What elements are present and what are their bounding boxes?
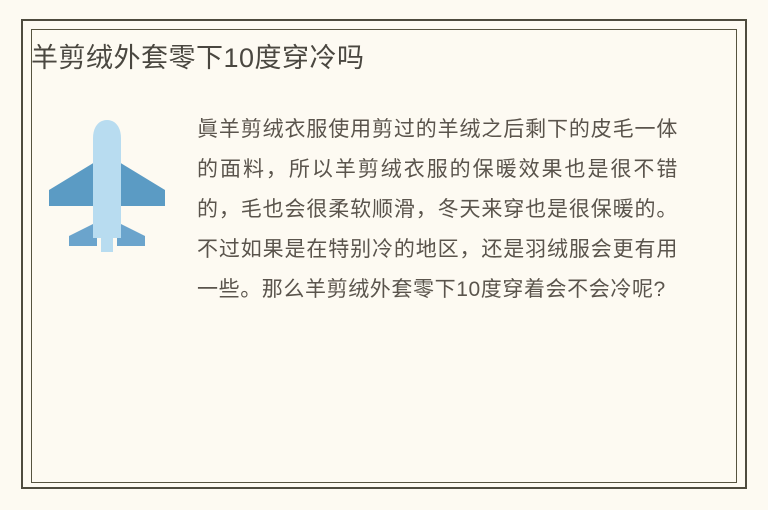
article-card-page: 羊剪绒外套零下10度穿冷吗 眞羊剪绒衣服使用剪过的羊绒之后剩下的皮毛一体的面料，… [0, 0, 768, 510]
page-title: 羊剪绒外套零下10度穿冷吗 [31, 36, 365, 75]
airplane-icon [47, 118, 167, 258]
article-body-text: 眞羊剪绒衣服使用剪过的羊绒之后剩下的皮毛一体的面料，所以羊剪绒衣服的保暖效果也是… [197, 110, 678, 310]
